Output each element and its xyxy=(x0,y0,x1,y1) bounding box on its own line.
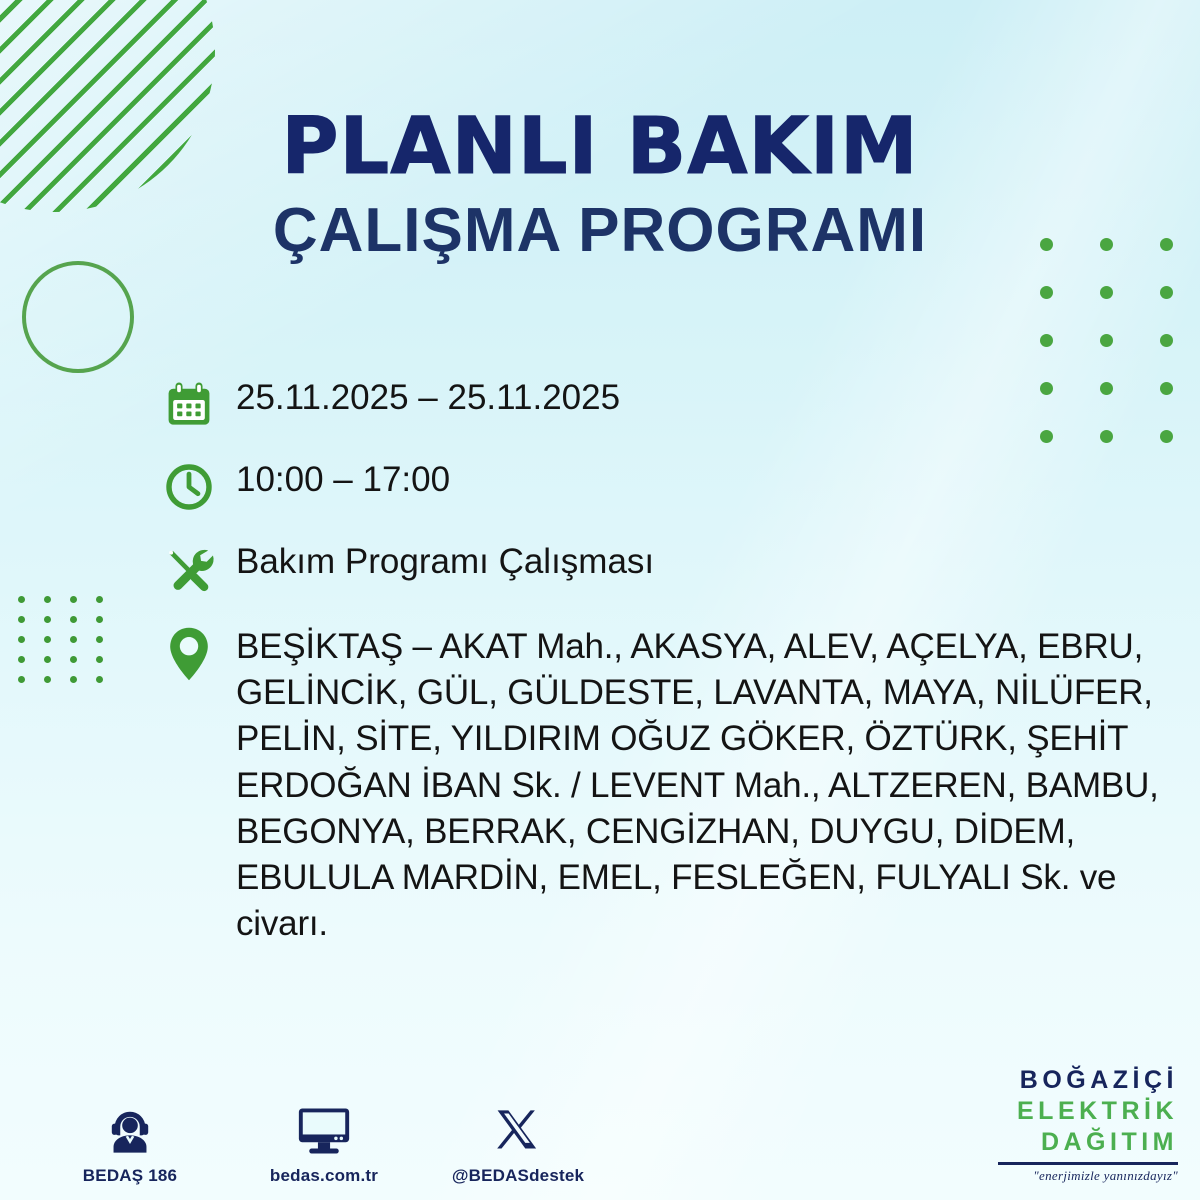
clock-icon xyxy=(164,460,236,512)
contact-website-label: bedas.com.tr xyxy=(270,1166,378,1186)
contact-phone-label: BEDAŞ 186 xyxy=(83,1166,177,1186)
contact-phone[interactable]: BEDAŞ 186 xyxy=(60,1099,200,1186)
brand-line-dagitim: DAĞITIM xyxy=(998,1130,1178,1155)
contact-website[interactable]: bedas.com.tr xyxy=(254,1099,394,1186)
contact-x-label: @BEDASdestek xyxy=(452,1166,584,1186)
brand-line-bogazici: BOĞAZİÇİ xyxy=(998,1068,1178,1093)
work-type-value: Bakım Programı Çalışması xyxy=(236,542,654,581)
poster-header: PLANLI BAKIM ÇALIŞMA PROGRAMI xyxy=(0,108,1200,263)
brand-divider xyxy=(998,1162,1178,1165)
date-range-value: 25.11.2025 – 25.11.2025 xyxy=(236,378,620,417)
brand-tagline: "enerjimizle yanınızdayız" xyxy=(998,1169,1178,1182)
planned-maintenance-poster: PLANLI BAKIM ÇALIŞMA PROGRAMI xyxy=(0,0,1200,1200)
detail-row-location: BEŞİKTAŞ – AKAT Mah., AKASYA, ALEV, AÇEL… xyxy=(164,624,1174,947)
maintenance-details: 25.11.2025 – 25.11.2025 10:00 – 17:00 xyxy=(164,378,1174,971)
contact-list: BEDAŞ 186 bedas.com.t xyxy=(60,1099,588,1186)
dot-grid-left-decoration xyxy=(18,596,122,696)
page-subtitle: ÇALIŞMA PROGRAMI xyxy=(0,198,1200,263)
bedas-logo: BOĞAZİÇİ ELEKTRİK DAĞITIM "enerjimizle y… xyxy=(998,1068,1178,1182)
brand-line-elektrik: ELEKTRİK xyxy=(998,1099,1178,1124)
time-range-value: 10:00 – 17:00 xyxy=(236,460,450,499)
tools-icon xyxy=(164,542,236,596)
location-value: BEŞİKTAŞ – AKAT Mah., AKASYA, ALEV, AÇEL… xyxy=(236,624,1166,947)
detail-row-date: 25.11.2025 – 25.11.2025 xyxy=(164,378,1174,430)
map-pin-icon xyxy=(164,624,236,682)
page-title: PLANLI BAKIM xyxy=(0,108,1200,186)
detail-row-time: 10:00 – 17:00 xyxy=(164,460,1174,512)
calendar-icon xyxy=(164,378,236,430)
x-twitter-icon xyxy=(493,1099,543,1157)
call-center-agent-icon xyxy=(104,1099,156,1157)
circle-outline-decoration xyxy=(22,261,134,373)
monitor-icon xyxy=(295,1099,353,1157)
detail-row-work-type: Bakım Programı Çalışması xyxy=(164,542,1174,596)
poster-footer: BEDAŞ 186 bedas.com.t xyxy=(0,1040,1200,1200)
contact-x-handle[interactable]: @BEDASdestek xyxy=(448,1099,588,1186)
